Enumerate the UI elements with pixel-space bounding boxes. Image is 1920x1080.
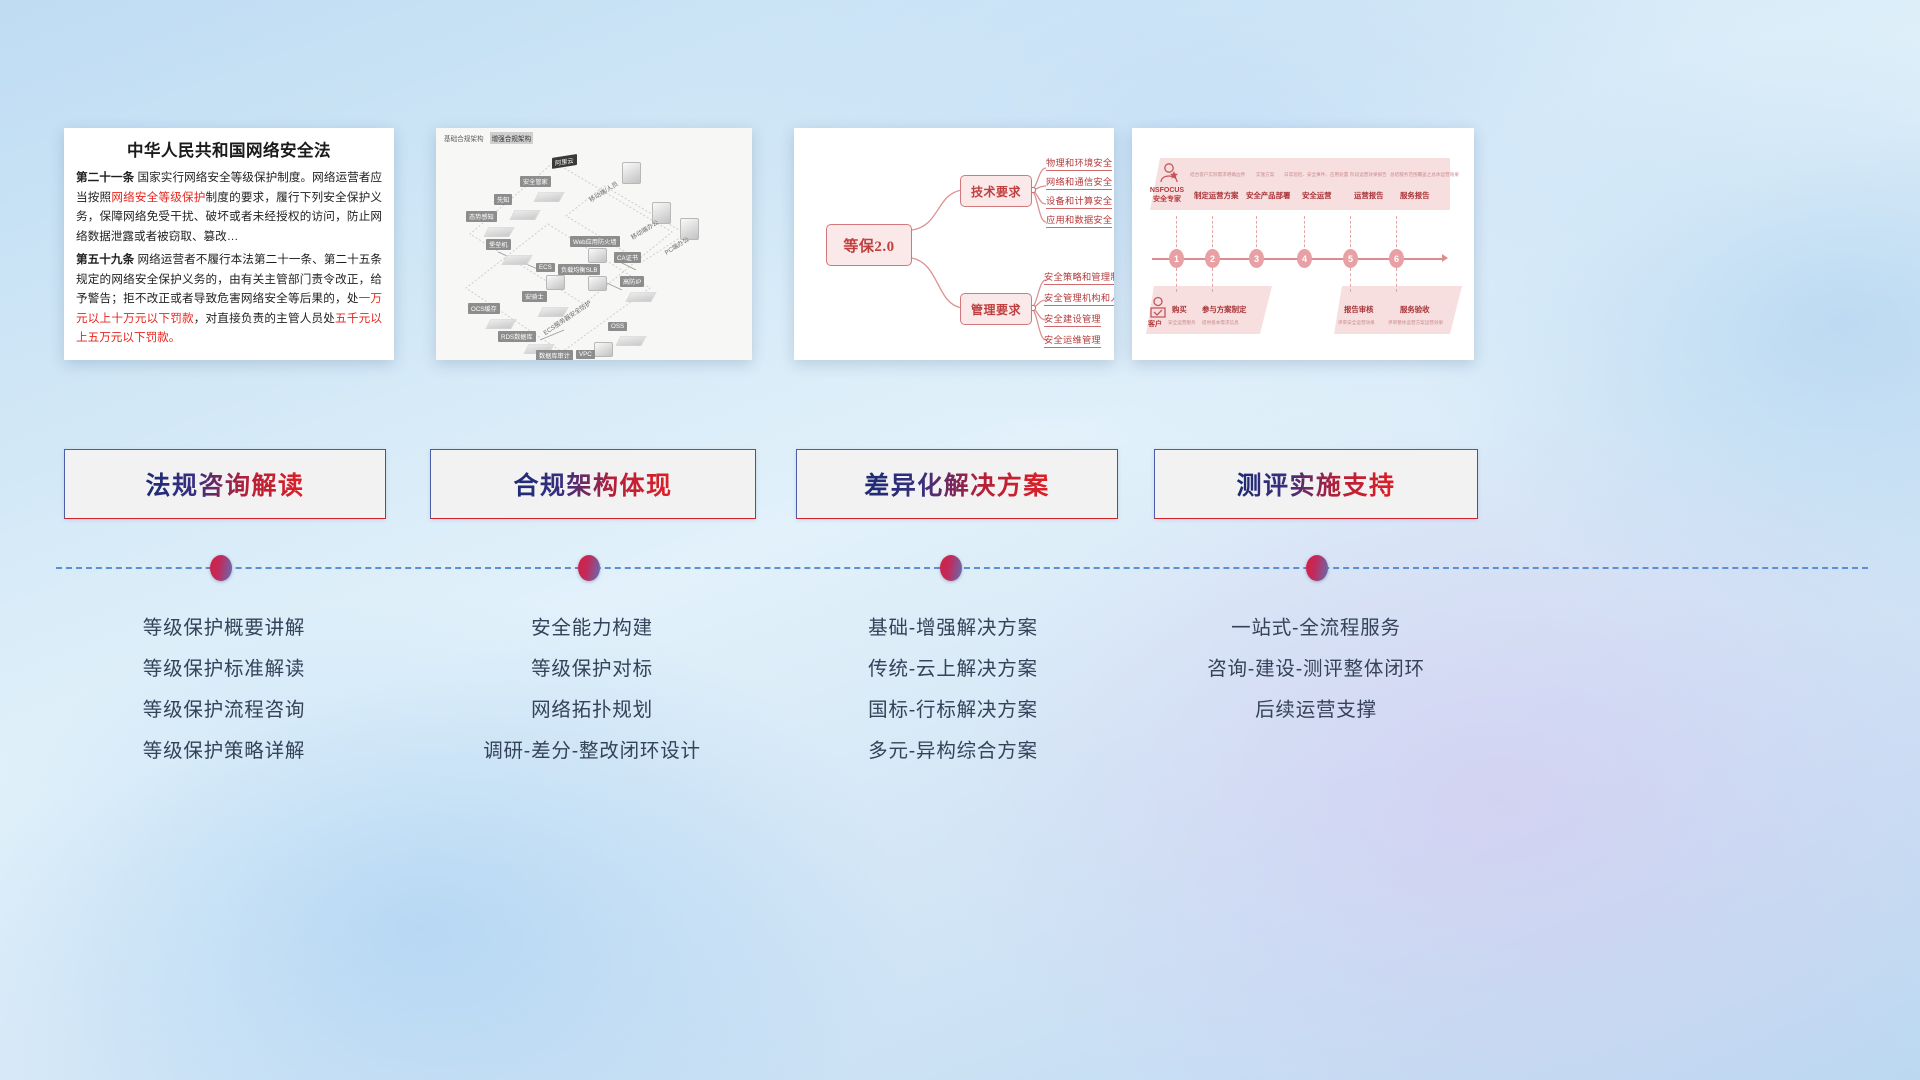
list-item: 等级保护策略详解 xyxy=(64,731,384,772)
list-item: 等级保护对标 xyxy=(426,649,758,690)
list-item: 网络拓扑规划 xyxy=(426,690,758,731)
heading-row: 法规咨询解读 合规架构体现 差异化解决方案 测评实施支持 等级保护概要讲解 等级… xyxy=(0,0,1920,1080)
heading-label-1: 法规咨询解读 xyxy=(145,466,304,502)
heading-box-2[interactable]: 合规架构体现 xyxy=(430,449,756,519)
list-item: 基础-增强解决方案 xyxy=(790,608,1116,649)
timeline-node-3[interactable] xyxy=(940,555,962,581)
list-item: 传统-云上解决方案 xyxy=(790,649,1116,690)
list-item: 后续运营支撑 xyxy=(1148,690,1484,731)
list-item: 一站式-全流程服务 xyxy=(1148,608,1484,649)
list-item: 调研-差分-整改闭环设计 xyxy=(426,731,758,772)
list-item: 等级保护流程咨询 xyxy=(64,690,384,731)
detail-list-3: 基础-增强解决方案 传统-云上解决方案 国标-行标解决方案 多元-异构综合方案 xyxy=(790,608,1116,772)
list-item: 多元-异构综合方案 xyxy=(790,731,1116,772)
detail-list-2: 安全能力构建 等级保护对标 网络拓扑规划 调研-差分-整改闭环设计 xyxy=(426,608,758,772)
detail-list-1: 等级保护概要讲解 等级保护标准解读 等级保护流程咨询 等级保护策略详解 xyxy=(64,608,384,772)
heading-box-3[interactable]: 差异化解决方案 xyxy=(796,449,1118,519)
list-item: 咨询-建设-测评整体闭环 xyxy=(1148,649,1484,690)
heading-box-4[interactable]: 测评实施支持 xyxy=(1154,449,1478,519)
heading-label-3: 差异化解决方案 xyxy=(864,466,1050,502)
timeline-node-1[interactable] xyxy=(210,555,232,581)
list-item: 等级保护标准解读 xyxy=(64,649,384,690)
heading-label-4: 测评实施支持 xyxy=(1236,466,1395,502)
timeline-node-2[interactable] xyxy=(578,555,600,581)
detail-list-4: 一站式-全流程服务 咨询-建设-测评整体闭环 后续运营支撑 xyxy=(1148,608,1484,731)
list-item: 国标-行标解决方案 xyxy=(790,690,1116,731)
list-item: 等级保护概要讲解 xyxy=(64,608,384,649)
list-item: 安全能力构建 xyxy=(426,608,758,649)
heading-label-2: 合规架构体现 xyxy=(513,466,672,502)
slide-canvas: 中华人民共和国网络安全法 第二十一条 国家实行网络安全等级保护制度。网络运营者应… xyxy=(0,0,1920,1080)
timeline-node-4[interactable] xyxy=(1306,555,1328,581)
timeline-track xyxy=(56,567,1868,569)
heading-box-1[interactable]: 法规咨询解读 xyxy=(64,449,386,519)
